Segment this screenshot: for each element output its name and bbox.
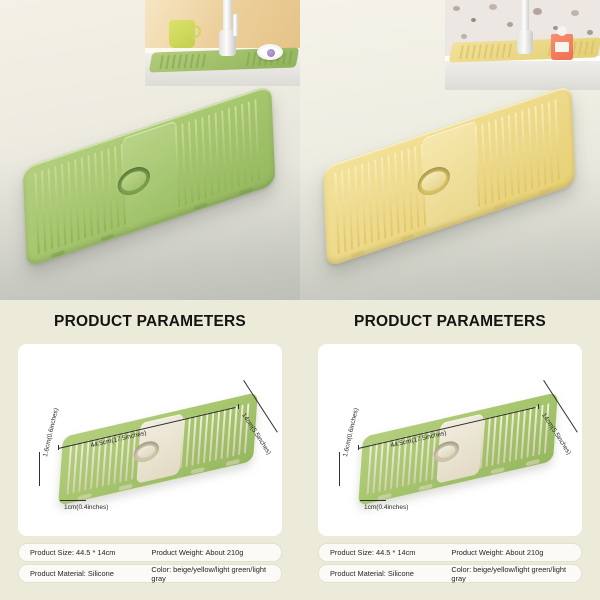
dimension-diagram-card: 44.5cm(17.5inches) 14cm(5.5inches) 1.6cm… (18, 344, 282, 536)
page-title: PRODUCT PARAMETERS (0, 313, 300, 331)
spec-row: Product Size: 44.5 * 14cm Product Weight… (18, 543, 282, 562)
length-tick-start (58, 445, 59, 450)
yellow-product-photo (300, 0, 600, 300)
parameters-panel-left: PRODUCT PARAMETERS (0, 300, 300, 600)
product-parameters-row: PRODUCT PARAMETERS (0, 300, 600, 600)
spec-row: Product Material: Silicone Color: beige/… (18, 564, 282, 583)
page-title: PRODUCT PARAMETERS (300, 313, 600, 331)
dimension-diagram: 44.5cm(17.5inches) 14cm(5.5inches) 1.6cm… (18, 344, 282, 536)
green-product-photo (0, 0, 300, 300)
spec-product-weight: Product Weight: About 210g (140, 548, 281, 557)
length-tick-end (538, 404, 539, 409)
dimension-diagram: 44.5cm(17.5inches) 14cm(5.5inches) 1.6cm… (318, 344, 582, 536)
height-dimension-line (339, 452, 340, 486)
product-listing-image: PRODUCT PARAMETERS (0, 0, 600, 600)
spec-product-color: Color: beige/yellow/light green/light gr… (440, 565, 581, 583)
dimension-diagram-card: 44.5cm(17.5inches) 14cm(5.5inches) 1.6cm… (318, 344, 582, 536)
silicone-faucet-mat (323, 85, 576, 268)
yellow-mat-hero (300, 0, 600, 300)
thickness-dimension-line (360, 500, 386, 501)
height-dimension-line (39, 452, 40, 486)
spec-product-material: Product Material: Silicone (19, 569, 140, 578)
spec-row: Product Material: Silicone Color: beige/… (318, 564, 582, 583)
thickness-label: 1cm(0.4inches) (64, 504, 108, 511)
height-label: 1.6cm(0.6inches) (42, 407, 60, 457)
spec-product-material: Product Material: Silicone (319, 569, 440, 578)
spec-product-size: Product Size: 44.5 * 14cm (19, 548, 140, 557)
product-photo-row (0, 0, 600, 300)
spec-product-color: Color: beige/yellow/light green/light gr… (140, 565, 281, 583)
spec-product-size: Product Size: 44.5 * 14cm (319, 548, 440, 557)
parameters-panel-right: PRODUCT PARAMETERS (300, 300, 600, 600)
thickness-dimension-line (60, 500, 86, 501)
green-mat-hero (0, 0, 300, 300)
thickness-label: 1cm(0.4inches) (364, 504, 408, 511)
spec-product-weight: Product Weight: About 210g (440, 548, 581, 557)
length-tick-end (238, 404, 239, 409)
silicone-faucet-mat (23, 85, 276, 268)
length-tick-start (358, 445, 359, 450)
spec-row: Product Size: 44.5 * 14cm Product Weight… (318, 543, 582, 562)
height-label: 1.6cm(0.6inches) (342, 407, 360, 457)
